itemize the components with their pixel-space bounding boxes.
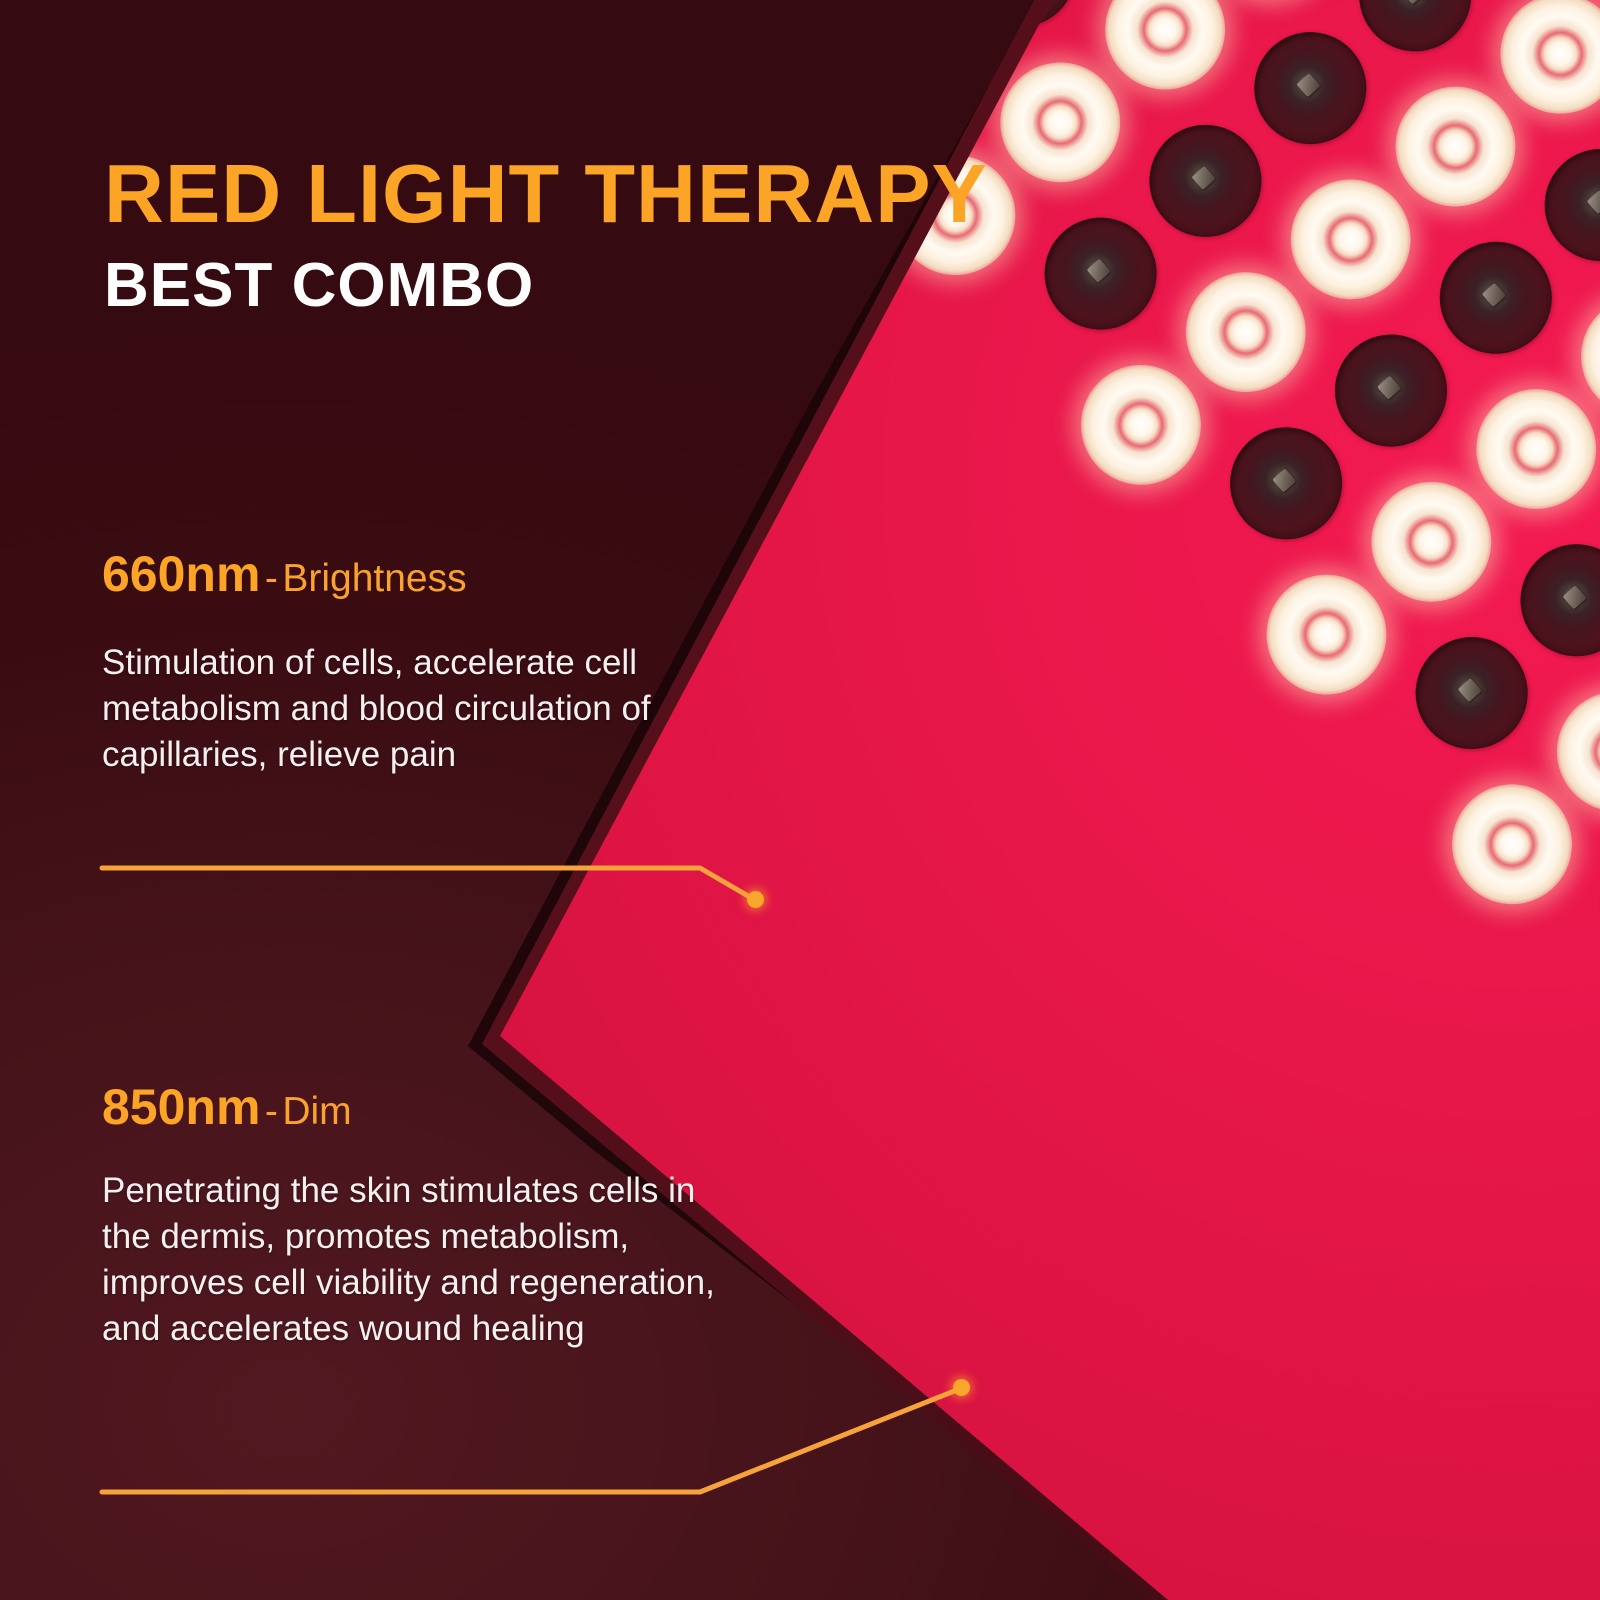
wavelength-heading-850: 850nm - Dim [102,1078,352,1136]
wavelength-kind-660: Brightness [282,557,466,600]
led-bright [776,0,974,12]
wavelength-kind-850: Dim [282,1090,351,1133]
infographic-canvas: RED LIGHT THERAPY BEST COMBO 660nm - Bri… [0,0,1600,1600]
wavelength-value-850: 850nm [102,1079,260,1135]
callout-line-850 [102,1388,962,1492]
wavelength-dash-660: - [265,557,278,600]
page-title: RED LIGHT THERAPY [104,152,988,235]
led-bright [671,0,869,104]
wavelength-body-850: Penetrating the skin stimulates cells in… [102,1168,722,1352]
callout-dot-660 [747,891,764,908]
led-panel [0,0,1600,1600]
wavelength-dash-850: - [265,1090,278,1133]
wavelength-body-660: Stimulation of cells, accelerate cell me… [102,640,702,778]
wavelength-heading-660: 660nm - Brightness [102,545,467,603]
wavelength-value-660: 660nm [102,546,260,602]
callout-dot-850 [953,1379,970,1396]
page-subtitle: BEST COMBO [104,255,534,317]
panel-face [0,0,1600,1600]
